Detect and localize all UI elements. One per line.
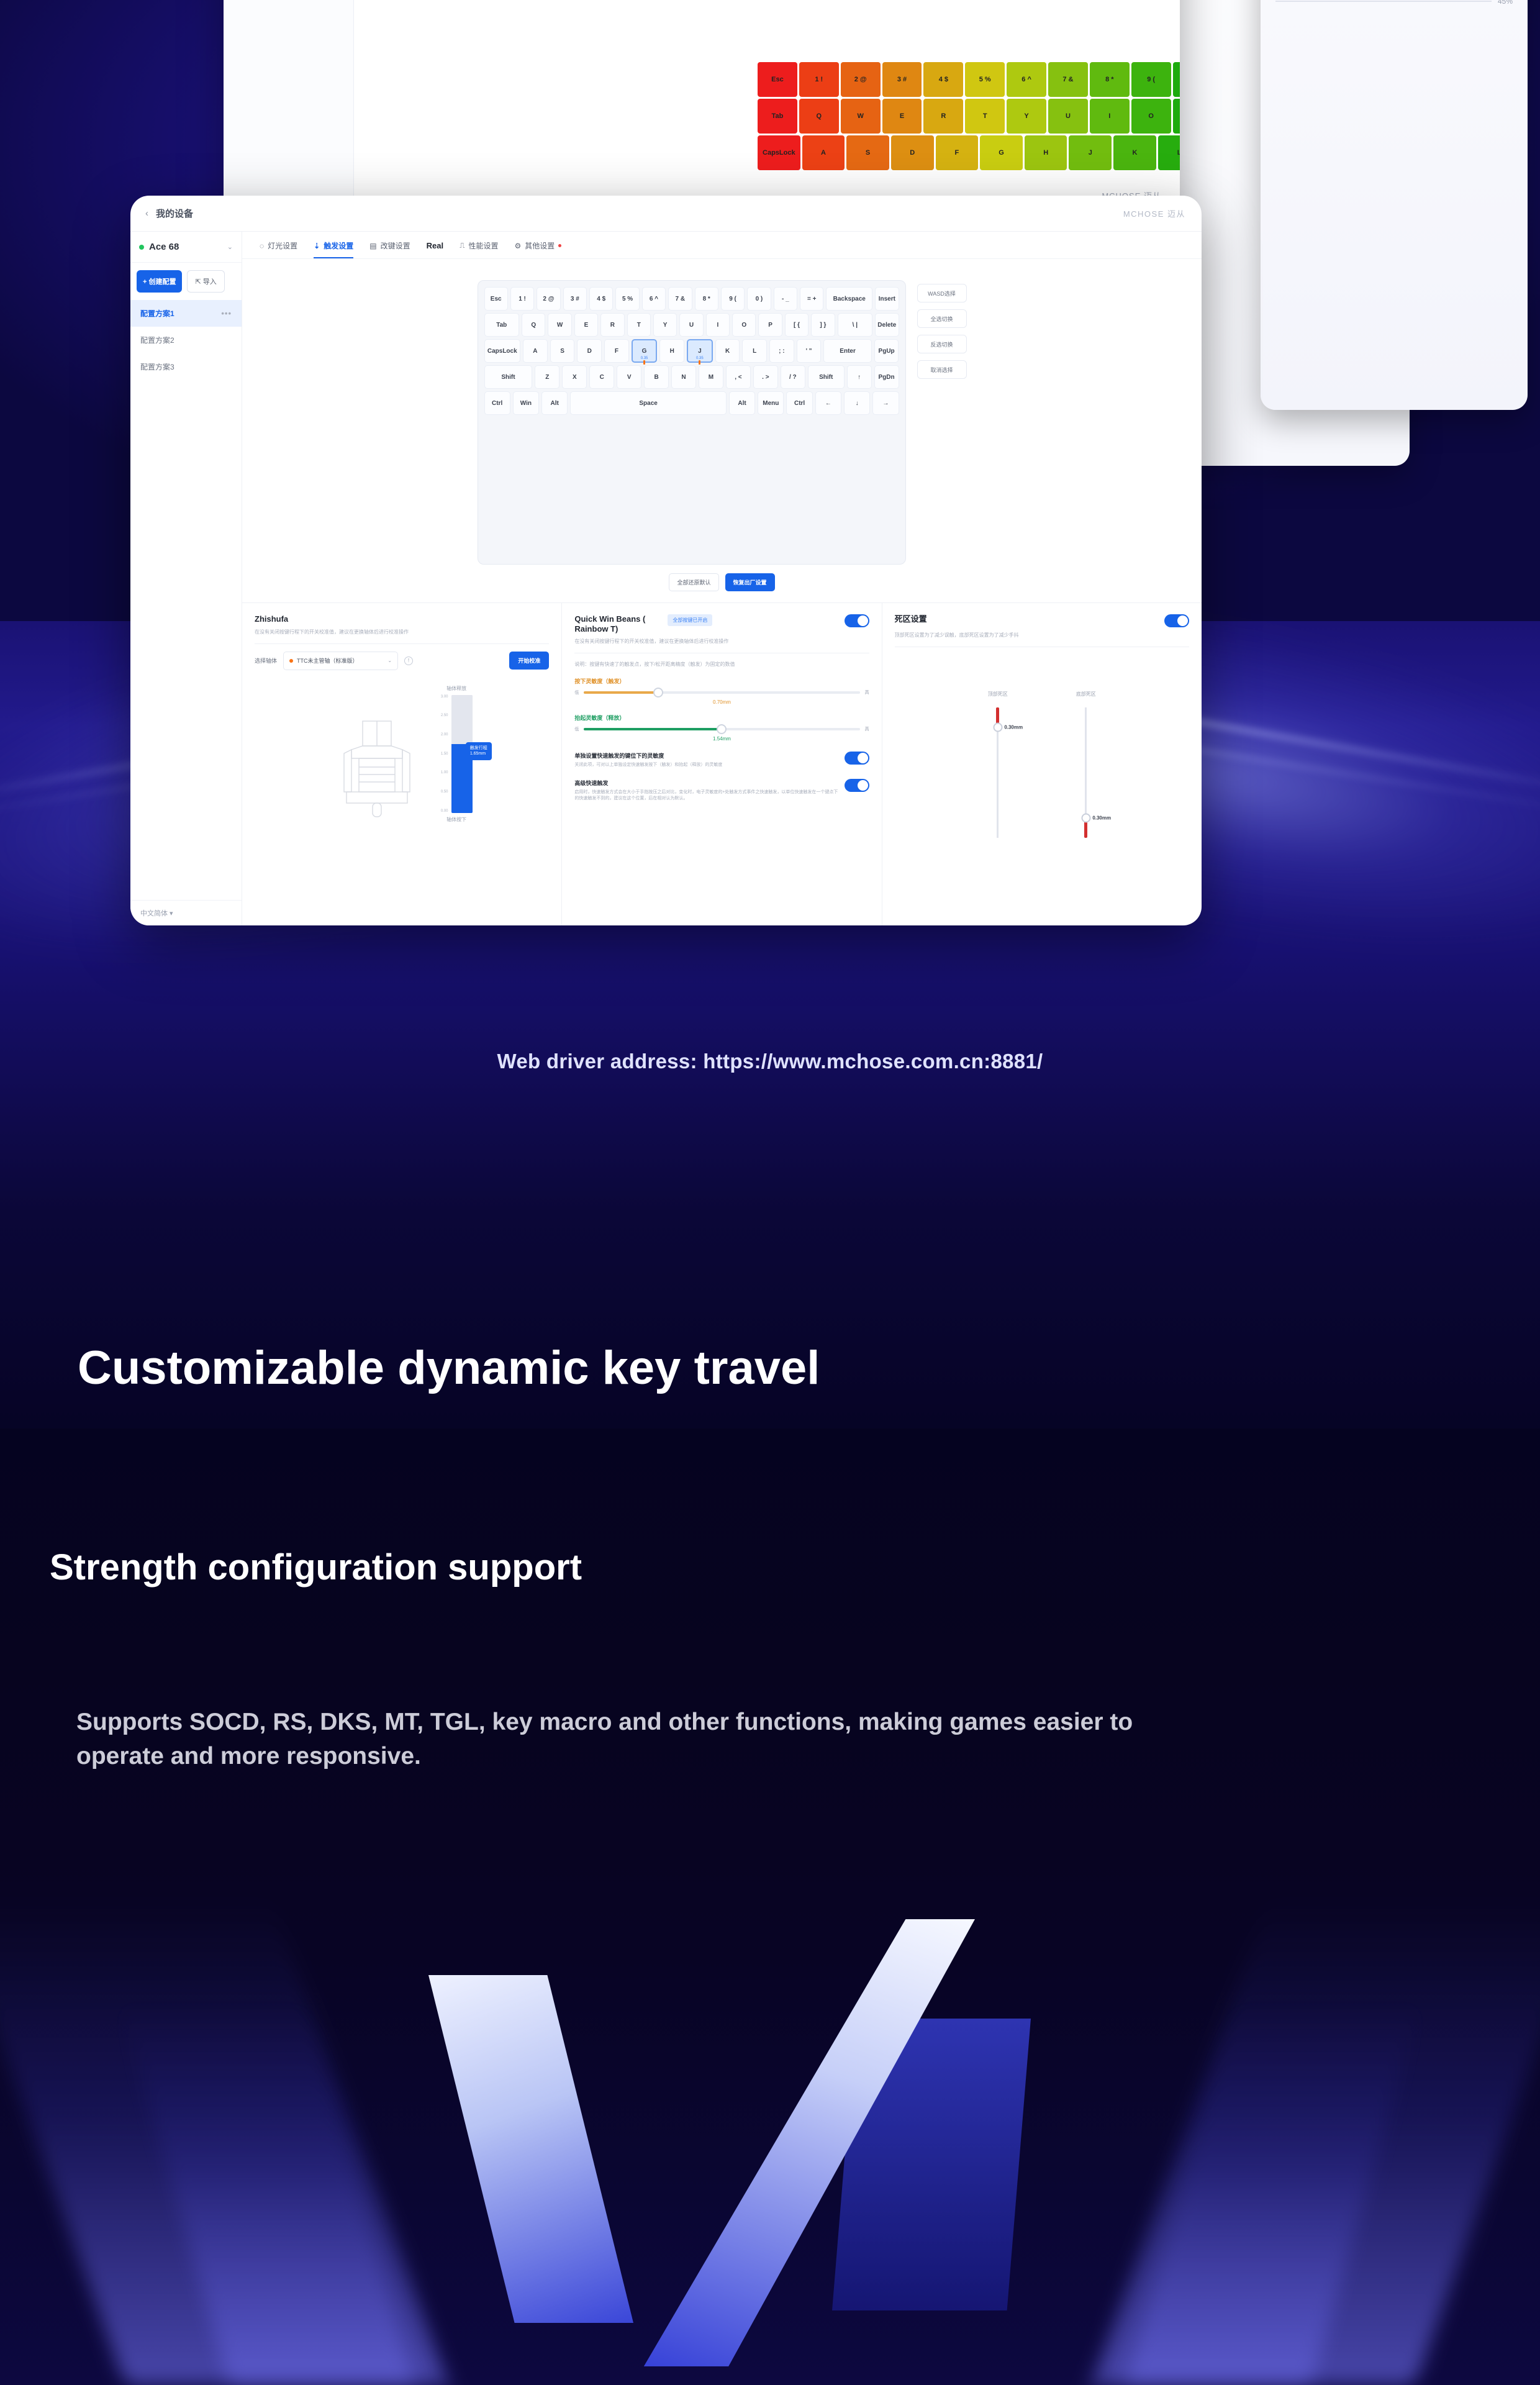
slider-row: 低 高 xyxy=(574,726,869,732)
key-label: 9 ( xyxy=(729,296,736,302)
rainbow-key: O xyxy=(1131,99,1171,134)
key-label: Esc xyxy=(491,296,502,302)
key-label: 6 ^ xyxy=(650,296,658,302)
background-sidebar: + 创建配置 ⇱ 导入 配置方案1 ••• 配置方案2 配置方案3 xyxy=(224,0,354,211)
key-label: Ctrl xyxy=(794,400,805,407)
key-label: M xyxy=(709,374,713,381)
key-menu[interactable]: Menu xyxy=(758,391,784,415)
key-label: PgDn xyxy=(879,374,895,381)
key-label: 5 % xyxy=(622,296,633,302)
key-g[interactable]: G0.35 xyxy=(632,339,658,363)
key-[interactable]: , < xyxy=(726,365,751,389)
keyboard-footer-buttons: 全部还原默认 恢复出厂设置 xyxy=(242,565,1202,602)
keyboard-select-button-0[interactable]: WASD选择 xyxy=(917,284,967,302)
tab-bar: ◌灯光设置⇣触发设置▤改键设置Real⎍性能设置⚙其他设置 xyxy=(242,232,1202,259)
key-[interactable]: ' " xyxy=(797,339,822,363)
divider xyxy=(255,643,549,644)
switch-select-row: 选择轴体 TTC未主管轴（标准版） ⌄ ! 开始校准 xyxy=(255,652,549,670)
divider xyxy=(574,653,869,653)
bulb-icon: ◌ xyxy=(260,242,264,250)
tab-label: 灯光设置 xyxy=(268,240,297,251)
tab-label: Real xyxy=(427,241,443,250)
key-insert[interactable]: Insert xyxy=(875,287,899,311)
key-label: K xyxy=(725,348,730,355)
key-z[interactable]: Z xyxy=(535,365,559,389)
config-list: 配置方案1 ••• 配置方案2 配置方案3 xyxy=(130,300,242,900)
key-label: Delete xyxy=(877,322,896,329)
option-advanced-rapid-trigger: 高级快速触发 启用时，快速触发方式会在大小于手指按压之后对比，变化时，电子灵敏度… xyxy=(574,779,869,802)
key-space[interactable]: Space xyxy=(570,391,727,415)
gauge-tag-label: 触发行程 xyxy=(470,745,487,752)
slider-knob[interactable] xyxy=(717,724,727,734)
panel-switch-calibration: Zhishufa 在没有关闭按键行程下的开关校准值，建议在更换轴体后进行校准操作… xyxy=(242,603,562,925)
key-[interactable]: ↓ xyxy=(844,391,870,415)
tab-label: 性能设置 xyxy=(468,240,498,251)
panel-header: 死区设置 xyxy=(895,614,1189,627)
key-label: Shift xyxy=(501,374,515,381)
option-title: 单独设置快速触发的键位下的灵敏度 xyxy=(574,752,838,760)
slider-progress xyxy=(584,691,658,694)
key-[interactable]: / ? xyxy=(781,365,805,389)
option-description: 关闭此项，可对以上单独设定快速触发按下（触发）和抬起（释放）的灵敏度 xyxy=(574,762,838,769)
option-per-key-sensitivity: 单独设置快速触发的键位下的灵敏度 关闭此项，可对以上单独设定快速触发按下（触发）… xyxy=(574,752,869,769)
key-label: , < xyxy=(735,374,741,381)
key-alt[interactable]: Alt xyxy=(541,391,568,415)
gauge-tick: 2.50 xyxy=(441,714,448,717)
background-window-2: 45% 45% xyxy=(1261,0,1528,410)
keycap-icon: ▤ xyxy=(369,242,376,250)
subheadline: Strength configuration support xyxy=(50,1547,1105,1588)
slider-value: 0.70mm xyxy=(574,699,869,705)
rainbow-key: K xyxy=(1113,135,1156,170)
key-label: S xyxy=(560,348,564,355)
key-x[interactable]: X xyxy=(562,365,587,389)
gauge-tag-value: 1.65mm xyxy=(470,751,487,757)
rainbow-key: G xyxy=(980,135,1023,170)
background-window-1: + 创建配置 ⇱ 导入 配置方案1 ••• 配置方案2 配置方案3 Esc1 !… xyxy=(224,0,1180,211)
key-u[interactable]: U xyxy=(679,313,703,337)
page-title: 我的设备 xyxy=(156,207,193,220)
key-pgup[interactable]: PgUp xyxy=(874,339,899,363)
rainbow-key: 9 ( xyxy=(1131,62,1171,97)
key-label: A xyxy=(533,348,537,355)
key-label: . > xyxy=(762,374,769,381)
key-capslock[interactable]: CapsLock xyxy=(484,339,521,363)
key-a[interactable]: A xyxy=(523,339,548,363)
keyboard-selection-buttons: WASD选择全选切换反选切换取消选择 xyxy=(917,280,967,565)
release-sensitivity-slider-block: 抬起灵敏度（释放） 低 高 1.54mm xyxy=(574,714,869,742)
deadzone-indicator xyxy=(1084,822,1087,838)
key-label: 7 & xyxy=(676,296,686,302)
rainbow-key: R xyxy=(923,99,963,134)
key-esc[interactable]: Esc xyxy=(484,287,508,311)
rainbow-key: 1 ! xyxy=(799,62,839,97)
sidebar-item-config-3[interactable]: 配置方案3 xyxy=(130,353,242,380)
deadzone-label: 底部死区 xyxy=(1076,691,1096,697)
key-w[interactable]: W xyxy=(548,313,571,337)
perf-icon: ⎍ xyxy=(460,241,464,250)
key-shift[interactable]: Shift xyxy=(808,365,845,389)
key-label: F xyxy=(615,348,618,355)
start-calibration-button[interactable]: 开始校准 xyxy=(509,652,549,670)
deadzone-sliders: 顶部死区 0.30mm 底部死区 xyxy=(895,691,1189,838)
panel-note: 说明：按键有快速了的触发点，按下/松开距离精度（触发）为固定的数值 xyxy=(574,661,869,668)
rainbow-key: J xyxy=(1069,135,1112,170)
rainbow-key: H xyxy=(1025,135,1067,170)
key-label: Shift xyxy=(819,374,833,381)
rainbow-key: F xyxy=(936,135,979,170)
config-label: 配置方案3 xyxy=(140,361,174,372)
keyboard-wrapper: Esc1 !2 @3 #4 $5 %6 ^7 &8 *9 (0 )- _= +B… xyxy=(478,280,967,565)
sidebar-item-config-1[interactable]: 配置方案1 ••• xyxy=(130,300,242,327)
keyboard-row: CtrlWinAltSpaceAltMenuCtrl←↓→ xyxy=(484,391,899,415)
key-4[interactable]: 4 $ xyxy=(589,287,613,311)
mchose-m-logo xyxy=(397,1956,1174,2385)
key-label: B xyxy=(654,374,658,381)
rainbow-key: Tab xyxy=(758,99,797,134)
switch-select[interactable]: TTC未主管轴（标准版） ⌄ xyxy=(283,652,398,670)
trigger-icon: ⇣ xyxy=(314,242,320,250)
rainbow-key: W xyxy=(841,99,881,134)
option-text: 单独设置快速触发的键位下的灵敏度 关闭此项，可对以上单独设定快速触发按下（触发）… xyxy=(574,752,838,769)
deadzone-label: 顶部死区 xyxy=(988,691,1008,697)
tab-label: 改键设置 xyxy=(381,240,410,251)
key-m[interactable]: M xyxy=(699,365,723,389)
rainbow-key: 7 & xyxy=(1048,62,1088,97)
key-marker-icon xyxy=(699,360,700,365)
key-ctrl[interactable]: Ctrl xyxy=(786,391,812,415)
gauge-tick: 2.00 xyxy=(441,733,448,737)
key-label: D xyxy=(587,348,592,355)
key-label: G xyxy=(642,348,647,355)
key-label: 4 $ xyxy=(597,296,605,302)
panel-title: Quick Win Beans ( Rainbow T) xyxy=(574,614,661,634)
settings-panels: Zhishufa 在没有关闭按键行程下的开关校准值，建议在更换轴体后进行校准操作… xyxy=(242,602,1202,925)
key-[interactable]: ← xyxy=(815,391,841,415)
back-chevron-icon[interactable]: ‹ xyxy=(145,208,148,219)
rapid-trigger-toggle[interactable] xyxy=(845,614,869,627)
progress-bar xyxy=(1275,1,1492,2)
sidebar-item-config-2[interactable]: 配置方案2 xyxy=(130,327,242,353)
key-[interactable]: → xyxy=(872,391,899,415)
key-delete[interactable]: Delete xyxy=(875,313,899,337)
rainbow-key: Esc xyxy=(758,62,797,97)
key-label: 3 # xyxy=(571,296,579,302)
tab-label: 触发设置 xyxy=(324,240,353,251)
rainbow-key: 2 @ xyxy=(841,62,881,97)
key-k[interactable]: K xyxy=(715,339,740,363)
key-label: C xyxy=(600,374,604,381)
option-text: 高级快速触发 启用时，快速触发方式会在大小于手指按压之后对比，变化时，电子灵敏度… xyxy=(574,779,838,802)
key-5[interactable]: 5 % xyxy=(615,287,639,311)
panel-description: 顶部死区设置为了减少误触，底部死区设置为了减少手抖 xyxy=(895,632,1189,639)
rainbow-key: S xyxy=(846,135,889,170)
key-y[interactable]: Y xyxy=(653,313,677,337)
advanced-rapid-trigger-toggle[interactable] xyxy=(845,779,869,792)
rainbow-key: P xyxy=(1173,99,1180,134)
switch-select-value: TTC未主管轴（标准版） xyxy=(297,656,358,665)
key-label: Q xyxy=(531,322,536,329)
key-l[interactable]: L xyxy=(742,339,767,363)
chevron-down-icon: ⌄ xyxy=(387,658,392,663)
rainbow-keyboard-row: CapsLockASDFGHJKL; :' "EnterPgUp xyxy=(758,135,1180,170)
key-i[interactable]: I xyxy=(706,313,730,337)
keyboard-select-button-3[interactable]: 取消选择 xyxy=(917,360,967,379)
slider-track[interactable] xyxy=(584,691,859,694)
key-9[interactable]: 9 ( xyxy=(721,287,745,311)
panel-header: Zhishufa xyxy=(255,614,549,624)
key-label: ; : xyxy=(779,348,784,355)
key-6[interactable]: 6 ^ xyxy=(642,287,666,311)
key-win[interactable]: Win xyxy=(513,391,539,415)
key-marker-icon xyxy=(643,360,645,365)
config-label: 配置方案1 xyxy=(140,308,174,319)
headline: Customizable dynamic key travel xyxy=(78,1342,1009,1394)
key-1[interactable]: 1 ! xyxy=(510,287,534,311)
keyboard-select-button-1[interactable]: 全选切换 xyxy=(917,309,967,328)
tab-label: 其他设置 xyxy=(525,240,555,251)
key-enter[interactable]: Enter xyxy=(823,339,871,363)
key-label: / ? xyxy=(789,374,797,381)
info-icon[interactable]: ! xyxy=(404,656,413,665)
key-label: Ctrl xyxy=(492,400,502,407)
keyboard-row: TabQWERTYUIOP[ {] }\ |Delete xyxy=(484,313,899,337)
key-[interactable]: \ | xyxy=(838,313,873,337)
key-[interactable]: [ { xyxy=(785,313,808,337)
key-7[interactable]: 7 & xyxy=(668,287,692,311)
key-o[interactable]: O xyxy=(732,313,756,337)
virtual-keyboard[interactable]: Esc1 !2 @3 #4 $5 %6 ^7 &8 *9 (0 )- _= +B… xyxy=(478,280,906,565)
key-shift[interactable]: Shift xyxy=(484,365,533,389)
panel-description: 在没有关闭按键行程下的开关校准值，建议在更换轴体后进行校准操作 xyxy=(255,629,549,636)
press-sensitivity-slider-block: 按下灵敏度（触发） 低 高 0.70mm xyxy=(574,677,869,705)
per-key-sensitivity-toggle[interactable] xyxy=(845,752,869,765)
key-label: PgUp xyxy=(879,348,895,355)
key-n[interactable]: N xyxy=(671,365,696,389)
panel-deadzone: 死区设置 顶部死区设置为了减少误触，底部死区设置为了减少手抖 顶部死区 0.30… xyxy=(882,603,1202,925)
switch-color-dot-icon xyxy=(289,659,293,663)
notification-dot-icon xyxy=(558,244,561,247)
key-t[interactable]: T xyxy=(627,313,651,337)
rainbow-key: Q xyxy=(799,99,839,134)
key-label: Backspace xyxy=(833,296,866,302)
key-label: Win xyxy=(520,400,532,407)
key-h[interactable]: H xyxy=(659,339,684,363)
panel-rapid-trigger: Quick Win Beans ( Rainbow T) 全部按键已开启 在没有… xyxy=(562,603,882,925)
tab-5[interactable]: ⚙其他设置 xyxy=(514,240,561,258)
sidebar: Ace 68 ⌄ + 创建配置 ⇱ 导入 配置方案1 ••• 配置方案2 配置方… xyxy=(130,232,242,925)
key-label: Tab xyxy=(496,322,507,329)
status-badge: 全部按键已开启 xyxy=(668,614,712,626)
key-label: → xyxy=(882,400,889,407)
app-body: Ace 68 ⌄ + 创建配置 ⇱ 导入 配置方案1 ••• 配置方案2 配置方… xyxy=(130,232,1202,925)
rainbow-key: D xyxy=(891,135,934,170)
chevron-down-icon[interactable]: ⌄ xyxy=(227,243,233,251)
key-tab[interactable]: Tab xyxy=(484,313,520,337)
key-label: 2 @ xyxy=(543,296,554,302)
gauge-tick: 0.00 xyxy=(441,809,448,813)
key-label: E xyxy=(584,322,589,329)
driver-app-window: ‹ 我的设备 MCHOSE 迈从 Ace 68 ⌄ + 创建配置 ⇱ 导入 配置… xyxy=(130,196,1202,925)
key-backspace[interactable]: Backspace xyxy=(826,287,872,311)
key-label: [ { xyxy=(794,322,800,329)
slider-track[interactable] xyxy=(584,728,859,730)
key-r[interactable]: R xyxy=(600,313,624,337)
tab-4[interactable]: ⎍性能设置 xyxy=(460,240,498,258)
key-label: - _ xyxy=(782,296,789,302)
rainbow-key: L xyxy=(1158,135,1180,170)
config-label: 配置方案2 xyxy=(140,335,174,345)
rainbow-key: 4 $ xyxy=(923,62,963,97)
key-label: U xyxy=(689,322,694,329)
keyboard-zone: Esc1 !2 @3 #4 $5 %6 ^7 &8 *9 (0 )- _= +B… xyxy=(242,259,1202,565)
key-[interactable]: = + xyxy=(800,287,823,311)
rainbow-key: 0 ) xyxy=(1173,62,1180,97)
slider-min-label: 低 xyxy=(574,726,579,732)
key-[interactable]: ] } xyxy=(811,313,835,337)
gauge-value-tag: 触发行程 1.65mm xyxy=(466,742,492,761)
travel-gauge: 轴体释放 3.002.502.001.501.000.500.00 触发行程 1… xyxy=(441,685,473,823)
slider-row: 低 高 xyxy=(574,689,869,696)
deadzone-track[interactable]: 0.30mm xyxy=(997,707,999,838)
key-v[interactable]: V xyxy=(617,365,641,389)
key-[interactable]: - _ xyxy=(774,287,797,311)
slider-progress xyxy=(584,728,722,730)
other-icon: ⚙ xyxy=(514,242,521,250)
key-0[interactable]: 0 ) xyxy=(747,287,771,311)
device-name: Ace 68 xyxy=(149,242,222,252)
deadzone-toggle[interactable] xyxy=(1164,614,1189,627)
deadzone-track[interactable]: 0.30mm xyxy=(1085,707,1087,838)
key-s[interactable]: S xyxy=(550,339,575,363)
key-label: L xyxy=(753,348,756,355)
key-label: Alt xyxy=(738,400,746,407)
key-label: W xyxy=(557,322,563,329)
slider-label: 按下灵敏度（触发） xyxy=(574,677,869,685)
key-label: ↓ xyxy=(856,400,859,407)
key-label: P xyxy=(768,322,772,329)
deadzone-value: 0.30mm xyxy=(1004,725,1023,730)
key-label: Alt xyxy=(550,400,558,407)
key-[interactable]: ↑ xyxy=(847,365,872,389)
device-selector[interactable]: Ace 68 ⌄ xyxy=(130,232,242,263)
key-p[interactable]: P xyxy=(758,313,782,337)
slider-knob[interactable] xyxy=(653,688,663,697)
web-driver-address: Web driver address: https://www.mchose.c… xyxy=(0,1050,1540,1073)
slider-max-label: 高 xyxy=(865,726,869,732)
key-label: ] } xyxy=(820,322,826,329)
rainbow-key: 8 * xyxy=(1090,62,1130,97)
key-label: X xyxy=(573,374,577,381)
rainbow-key: E xyxy=(882,99,922,134)
key-label: V xyxy=(627,374,632,381)
slider-value: 1.54mm xyxy=(574,736,869,742)
logo-left-stroke xyxy=(428,1975,633,2323)
rainbow-key: 5 % xyxy=(965,62,1005,97)
key-j[interactable]: J0.35 xyxy=(687,339,713,363)
key-c[interactable]: C xyxy=(589,365,614,389)
key-3[interactable]: 3 # xyxy=(563,287,587,311)
app-titlebar: ‹ 我的设备 MCHOSE 迈从 xyxy=(130,196,1202,232)
key-label: Y xyxy=(663,322,668,329)
key-label: O xyxy=(741,322,746,329)
key-f[interactable]: F xyxy=(604,339,629,363)
gauge-tick: 0.50 xyxy=(441,790,448,794)
language-selector[interactable]: 中文简体 ▾ xyxy=(130,900,242,925)
tab-1[interactable]: ⇣触发设置 xyxy=(314,240,353,258)
key-[interactable]: ; : xyxy=(769,339,794,363)
restore-defaults-button[interactable]: 全部还原默认 xyxy=(669,573,718,591)
panel-description: 在没有关闭按键行程下的开关校准值，建议在更换轴体后进行校准操作 xyxy=(574,638,869,645)
key-label: H xyxy=(670,348,674,355)
keyboard-select-button-2[interactable]: 反选切换 xyxy=(917,335,967,353)
divider xyxy=(895,647,1189,647)
tab-2[interactable]: ▤改键设置 xyxy=(369,240,410,258)
more-options-icon[interactable]: ••• xyxy=(221,309,232,318)
gauge-tick: 1.00 xyxy=(441,771,448,775)
rainbow-key: Y xyxy=(1007,99,1046,134)
import-config-button[interactable]: ⇱ 导入 xyxy=(187,270,224,293)
rainbow-keyboard: Esc1 !2 @3 #4 $5 %6 ^7 &8 *9 (0 )- _= +B… xyxy=(758,62,1180,170)
key-label: Space xyxy=(639,400,657,407)
gauge-bottom-label: 轴体按下 xyxy=(446,816,466,823)
key-label: 8 * xyxy=(703,296,710,302)
key-ctrl[interactable]: Ctrl xyxy=(484,391,510,415)
rainbow-key: 3 # xyxy=(882,62,922,97)
tab-3[interactable]: Real xyxy=(427,241,443,258)
rainbow-key: U xyxy=(1048,99,1088,134)
create-config-button[interactable]: + 创建配置 xyxy=(137,270,182,293)
deadzone-knob[interactable] xyxy=(993,723,1002,732)
brand-logo-text: MCHOSE 迈从 xyxy=(1123,207,1185,219)
rainbow-keyboard-row: Esc1 !2 @3 #4 $5 %6 ^7 &8 *9 (0 )- _= +B… xyxy=(758,62,1180,97)
key-d[interactable]: D xyxy=(577,339,602,363)
key-label: I xyxy=(717,322,718,329)
deadzone-top: 顶部死区 0.30mm xyxy=(988,691,1008,838)
key-b[interactable]: B xyxy=(644,365,669,389)
deadzone-value: 0.30mm xyxy=(1092,815,1111,821)
key-pgdn[interactable]: PgDn xyxy=(874,365,899,389)
slider-label: 抬起灵敏度（释放） xyxy=(574,714,869,722)
key-alt[interactable]: Alt xyxy=(729,391,755,415)
key-8[interactable]: 8 * xyxy=(695,287,718,311)
deadzone-knob[interactable] xyxy=(1081,814,1090,823)
key-label: Menu xyxy=(763,400,779,407)
key-q[interactable]: Q xyxy=(522,313,545,337)
background-percent-row: 45% xyxy=(1261,0,1528,6)
factory-reset-button[interactable]: 恢复出厂设置 xyxy=(725,573,775,591)
tab-0[interactable]: ◌灯光设置 xyxy=(260,240,297,258)
gauge-body: 3.002.502.001.501.000.500.00 触发行程 1.65mm xyxy=(441,695,473,813)
rainbow-keyboard-row: TabQWERTYUIOP[ {] }\ |Delete xyxy=(758,99,1180,134)
sidebar-actions: + 创建配置 ⇱ 导入 xyxy=(130,263,242,300)
key-label: ← xyxy=(825,400,831,407)
gauge-top-label: 轴体释放 xyxy=(446,685,466,692)
key-e[interactable]: E xyxy=(574,313,598,337)
keyboard-row: ShiftZXCVBNM, <. >/ ?Shift↑PgDn xyxy=(484,365,899,389)
main-content: ◌灯光设置⇣触发设置▤改键设置Real⎍性能设置⚙其他设置 Esc1 !2 @3… xyxy=(242,232,1202,925)
key-[interactable]: . > xyxy=(753,365,778,389)
key-label: 0 ) xyxy=(756,296,763,302)
slider-min-label: 低 xyxy=(574,689,579,696)
rainbow-key: CapsLock xyxy=(758,135,800,170)
key-2[interactable]: 2 @ xyxy=(537,287,560,311)
option-description: 启用时，快速触发方式会在大小于手指按压之后对比，变化时，电子灵敏度的+处触发方式… xyxy=(574,789,838,802)
key-label: ↑ xyxy=(858,374,861,381)
switch-visualization: 轴体释放 3.002.502.001.501.000.500.00 触发行程 1… xyxy=(255,685,549,823)
deadzone-indicator xyxy=(996,707,999,724)
gauge-tick-labels: 3.002.502.001.501.000.500.00 xyxy=(441,695,448,813)
